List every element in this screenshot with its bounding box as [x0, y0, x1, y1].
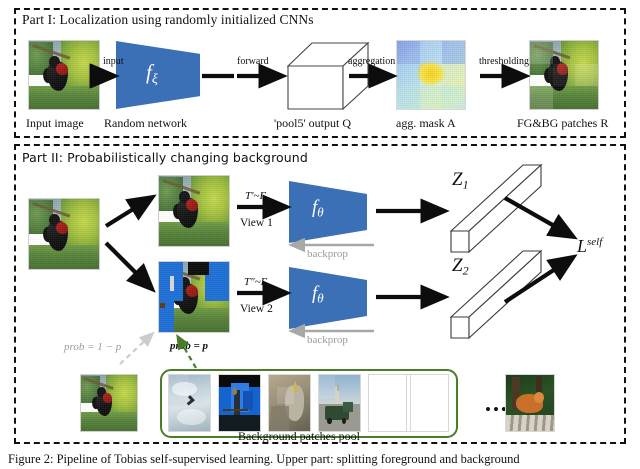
fgbg-patches-caption: FG&BG patches R [517, 116, 608, 131]
loss-label: Lself [577, 236, 602, 257]
z-symbol: Z [452, 255, 463, 276]
fgbg-patches-thumb [529, 40, 599, 110]
pool-patch-fox [406, 374, 449, 432]
pool-caption: Background patches pool [238, 429, 360, 444]
forward-arrow-label: forward [237, 56, 269, 67]
z1-label: Z1 [452, 169, 469, 193]
random-network-caption: Random network [104, 116, 187, 131]
pool-patch-truck [318, 374, 361, 432]
view2-transform-label: T″~Γ [244, 276, 267, 288]
kept-image-thumb [80, 374, 138, 432]
loss-symbol: L [577, 236, 587, 256]
agg-mask-caption: agg. mask A [396, 116, 456, 131]
pool-patch-rock-goat [268, 374, 311, 432]
z1-subscript: 1 [463, 178, 469, 192]
pool5-cube [286, 40, 372, 112]
view1-label: View 1 [240, 217, 273, 229]
pool-patch-fox-img [505, 374, 555, 432]
loss-superscript: self [587, 236, 602, 248]
thresholding-arrow-label: thresholding [479, 56, 529, 67]
pool-patch-rooster [368, 374, 411, 432]
backprop-label-view2: backprop [307, 334, 348, 346]
figure-caption: Figure 2: Pipeline of Tobias self-superv… [8, 452, 636, 468]
backprop-label-view1: backprop [307, 248, 348, 260]
view2-label: View 2 [240, 303, 273, 315]
prob-keep-label: prob = 1 − p [64, 341, 121, 353]
z-symbol: Z [452, 169, 463, 190]
view1-image-thumb [158, 175, 230, 247]
agg-mask-thumb [396, 40, 466, 110]
view1-transform-label: T′~Γ [245, 190, 266, 202]
input-image-caption: Input image [26, 116, 84, 131]
pool-patch-sky-bird [168, 374, 211, 432]
z2-subscript: 2 [463, 264, 469, 278]
aggregation-arrow-label: aggregation [348, 56, 395, 67]
source-image-thumb [28, 198, 100, 270]
z2-label: Z2 [452, 255, 469, 279]
pool5-caption: 'pool5' output Q [274, 116, 351, 131]
part1-title: Part I: Localization using randomly init… [22, 12, 314, 28]
input-image-thumb [28, 40, 100, 110]
pool-patch-blue-statue [218, 374, 261, 432]
part2-title: Part II: Probabilistically changing back… [22, 150, 308, 165]
prob-swap-label: prob = p [170, 340, 208, 352]
input-arrow-label: input [103, 56, 124, 67]
figure-canvas: Part I: Localization using randomly init… [0, 0, 640, 469]
view2-image-thumb [158, 261, 230, 333]
